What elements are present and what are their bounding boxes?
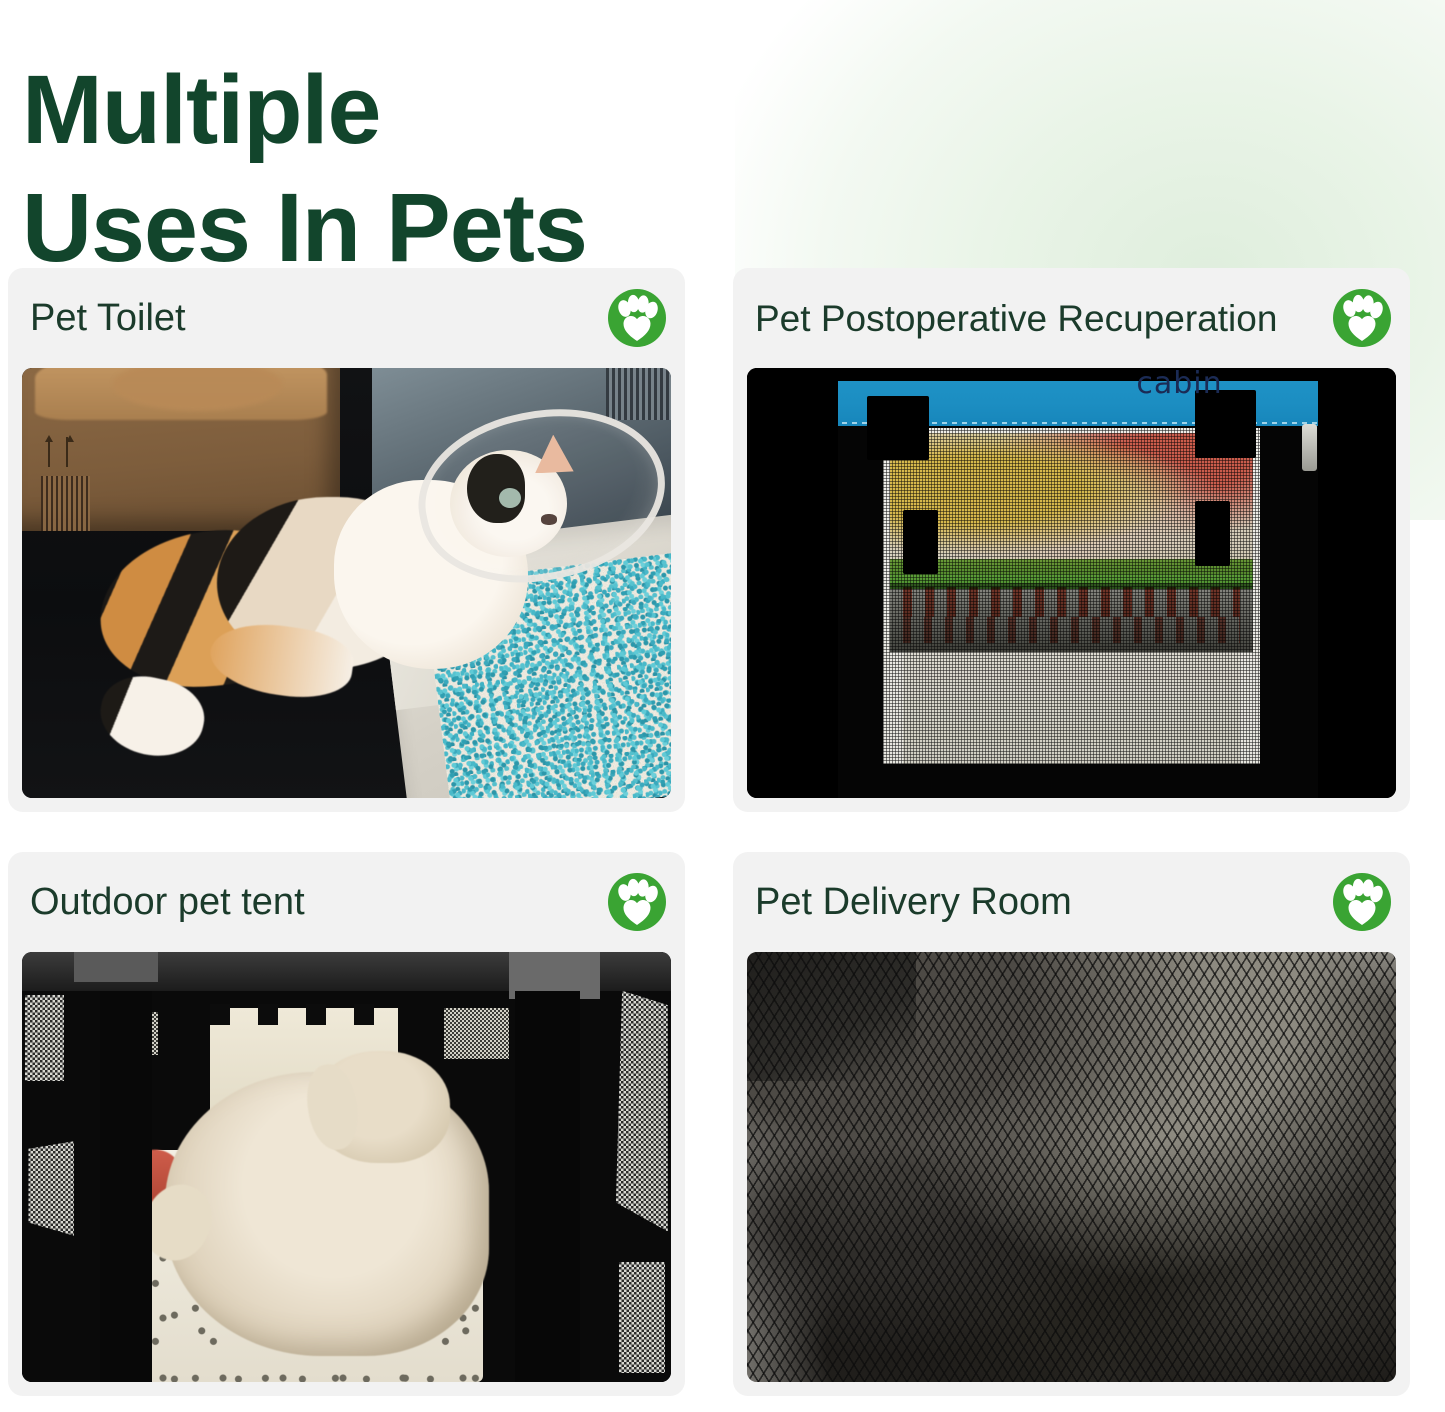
use-case-grid: Pet Toilet [8,268,1437,1396]
card-header: Outdoor pet tent [8,852,685,952]
page-title: Multiple Uses In Pets [22,51,782,288]
paw-icon [1332,872,1392,932]
paw-icon [607,288,667,348]
card-title: Pet Postoperative Recuperation [755,300,1277,337]
card-photo: cabin [747,368,1396,798]
card-title: Pet Delivery Room [755,883,1072,921]
card-photo [747,952,1396,1382]
paw-icon [607,872,667,932]
card-photo [22,952,671,1382]
page-root: Multiple Uses In Pets Pet Toilet [0,0,1445,1412]
paw-icon [1332,288,1392,348]
card-header: Pet Toilet [8,268,685,368]
card-header: Pet Postoperative Recuperation [733,268,1410,368]
photo-label-cabin: cabin [1136,368,1222,401]
card-header: Pet Delivery Room [733,852,1410,952]
use-case-card-delivery-room: Pet Delivery Room [733,852,1410,1396]
use-case-card-postoperative: Pet Postoperative Recuperation [733,268,1410,812]
use-case-card-pet-toilet: Pet Toilet [8,268,685,812]
card-title: Outdoor pet tent [30,883,305,921]
use-case-card-outdoor-tent: Outdoor pet tent [8,852,685,1396]
card-photo [22,368,671,798]
card-title: Pet Toilet [30,299,186,337]
